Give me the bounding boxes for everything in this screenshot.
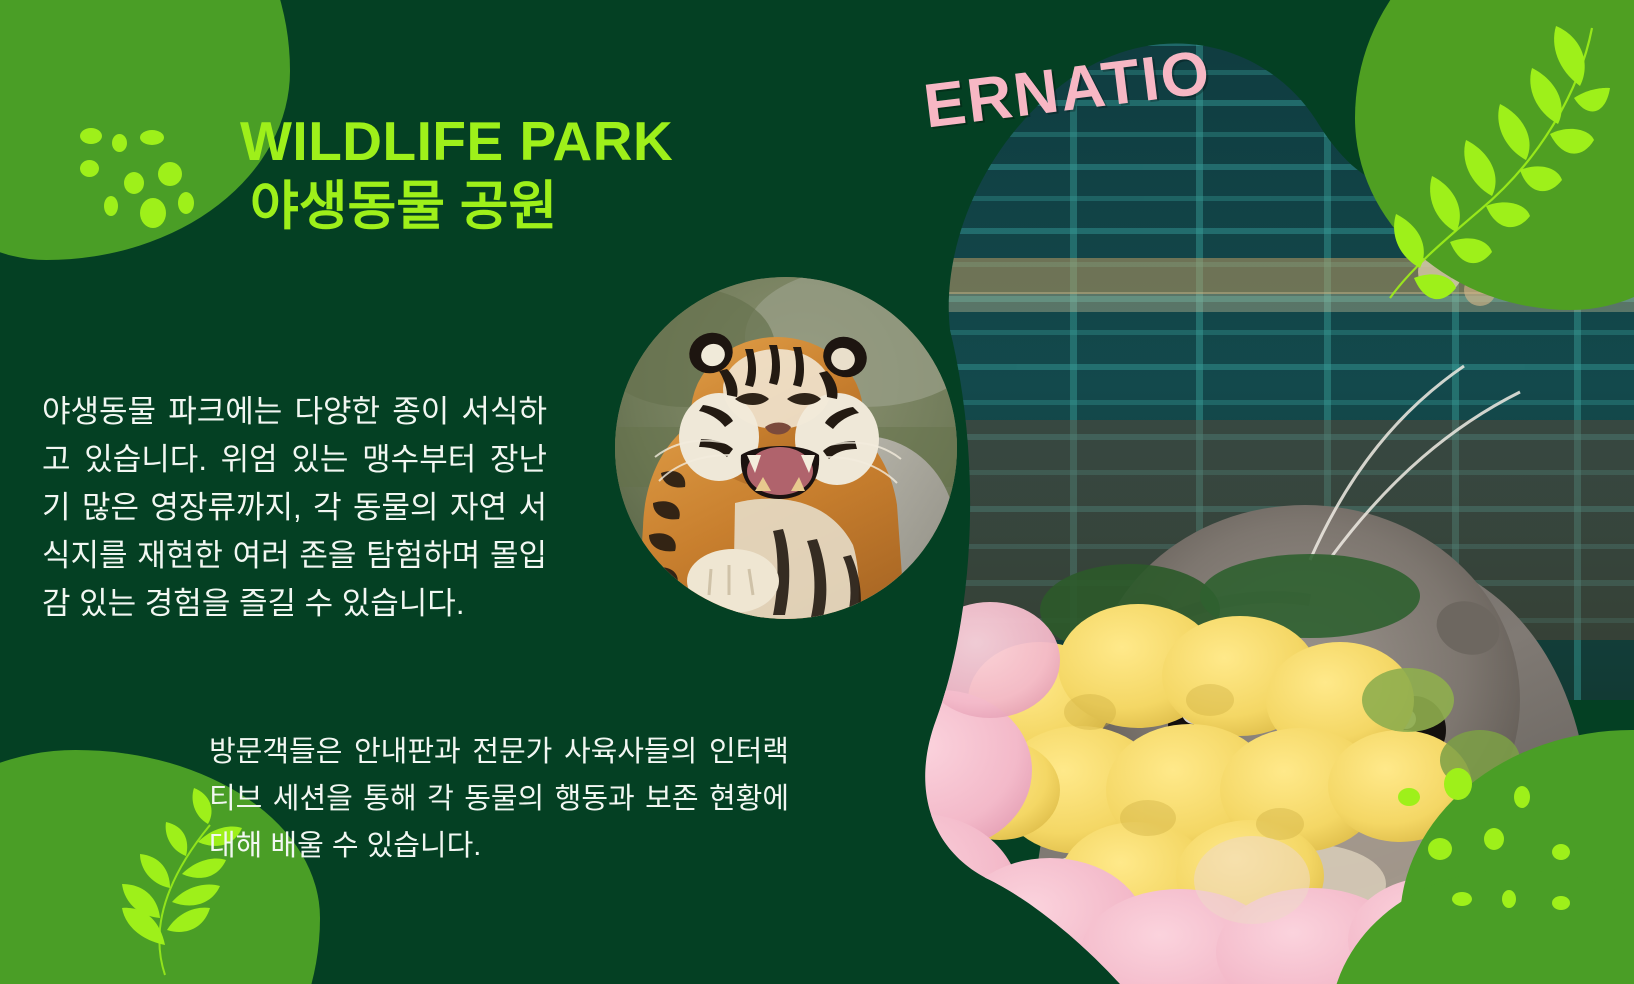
decorative-dot: [1398, 788, 1420, 806]
leaf-branch-top-right: [1330, 20, 1610, 310]
title-english: WILDLIFE PARK: [240, 112, 860, 171]
decorative-dot: [104, 196, 118, 216]
decorative-dot: [1428, 838, 1452, 860]
decorative-dot: [1552, 896, 1570, 910]
body-paragraph-2: 방문객들은 안내판과 전문가 사육사들의 인터랙티브 세션을 통해 각 동물의 …: [209, 729, 789, 870]
decorative-dot: [1552, 844, 1570, 860]
decorative-dot: [158, 162, 182, 186]
decorative-dot: [140, 130, 164, 145]
decorative-dot: [1502, 890, 1516, 908]
decorative-dot: [178, 192, 194, 214]
decorative-dot: [124, 172, 144, 194]
decorative-dot: [1452, 892, 1472, 906]
body-paragraph-1: 야생동물 파크에는 다양한 종이 서식하고 있습니다. 위엄 있는 맹수부터 장…: [42, 388, 547, 628]
roaring-tiger-photo: [615, 277, 957, 619]
decorative-dot: [80, 160, 99, 177]
title-korean: 야생동물 공원: [250, 175, 860, 240]
decorative-dot: [1484, 828, 1504, 850]
decorative-dot: [80, 128, 102, 144]
decorative-dot: [112, 134, 127, 152]
decorative-dot: [1444, 768, 1472, 800]
wildlife-park-slide: ERNATIO: [0, 0, 1634, 984]
decorative-dot: [1514, 786, 1530, 808]
decorative-dot: [140, 198, 166, 228]
page-title: WILDLIFE PARK 야생동물 공원: [240, 112, 860, 240]
